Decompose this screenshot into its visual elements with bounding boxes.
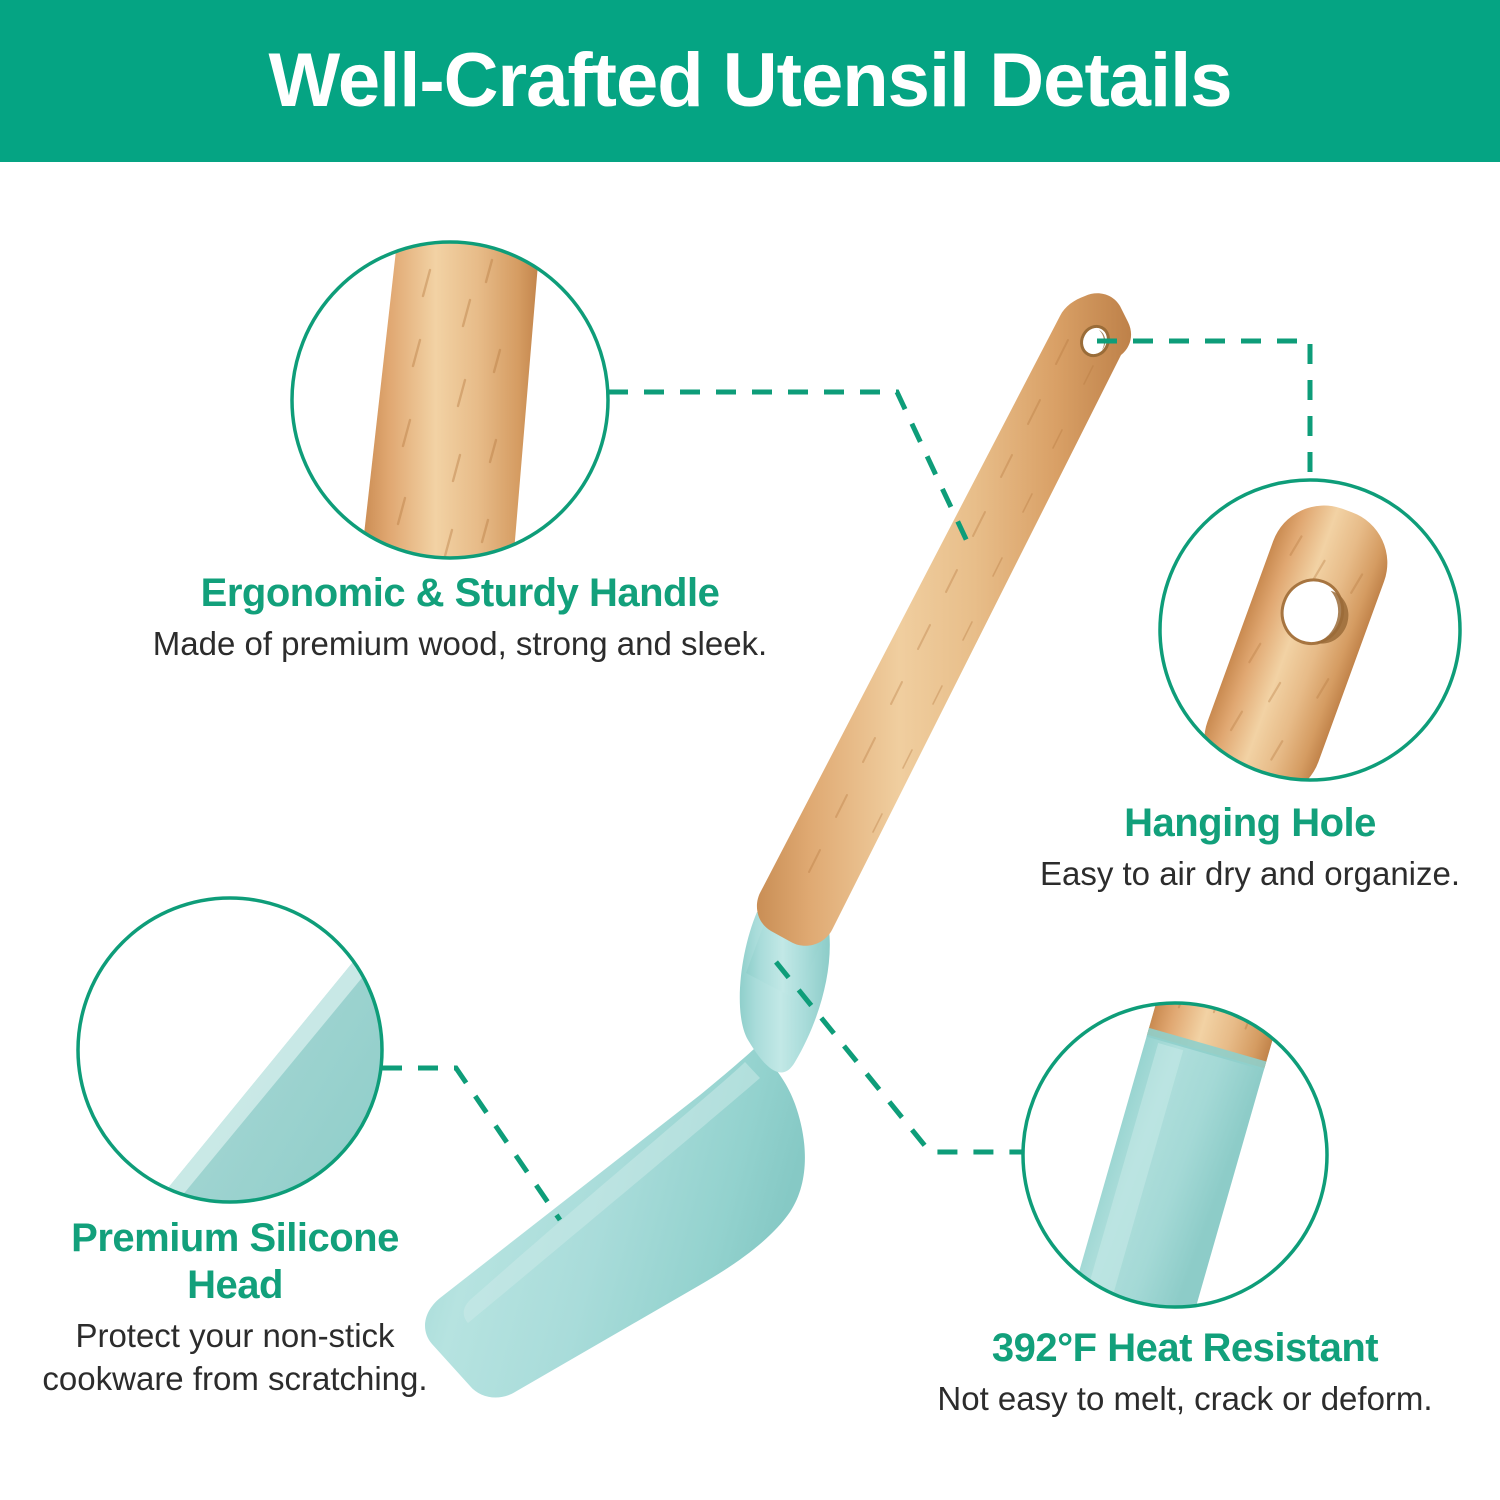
callout-title-hanging: Hanging Hole xyxy=(1000,800,1500,847)
callout-desc-silicone-line1: Protect your non-stick xyxy=(0,1315,470,1358)
connector-silicone-head xyxy=(382,1068,560,1220)
zoom-circle-handle xyxy=(290,215,610,600)
callout-title-heat: 392°F Heat Resistant xyxy=(870,1325,1500,1372)
connector-hanging-hole xyxy=(1097,341,1310,478)
callout-ergonomic-handle: Ergonomic & Sturdy Handle Made of premiu… xyxy=(60,570,860,666)
zoom-circle-silicone-head xyxy=(74,880,432,1220)
zoom-circle-hanging-hole xyxy=(1155,475,1465,813)
callout-desc-handle: Made of premium wood, strong and sleek. xyxy=(60,623,860,666)
zoom-circle-heat-resistant xyxy=(1020,965,1332,1330)
callout-desc-heat: Not easy to melt, crack or deform. xyxy=(870,1378,1500,1421)
callout-title-silicone-line2: Head xyxy=(0,1262,470,1309)
callout-desc-silicone-line2: cookware from scratching. xyxy=(0,1358,470,1401)
connector-handle xyxy=(608,392,972,552)
callout-hanging-hole: Hanging Hole Easy to air dry and organiz… xyxy=(1000,800,1500,896)
infographic-canvas: Well-Crafted Utensil Details xyxy=(0,0,1500,1500)
callout-heat-resistant: 392°F Heat Resistant Not easy to melt, c… xyxy=(870,1325,1500,1421)
silicone-head-blade xyxy=(425,1049,805,1398)
callout-title-silicone-line1: Premium Silicone xyxy=(0,1215,470,1262)
callout-desc-hanging: Easy to air dry and organize. xyxy=(1000,853,1500,896)
callout-title-handle: Ergonomic & Sturdy Handle xyxy=(60,570,860,617)
callout-silicone-head: Premium Silicone Head Protect your non-s… xyxy=(0,1215,470,1401)
